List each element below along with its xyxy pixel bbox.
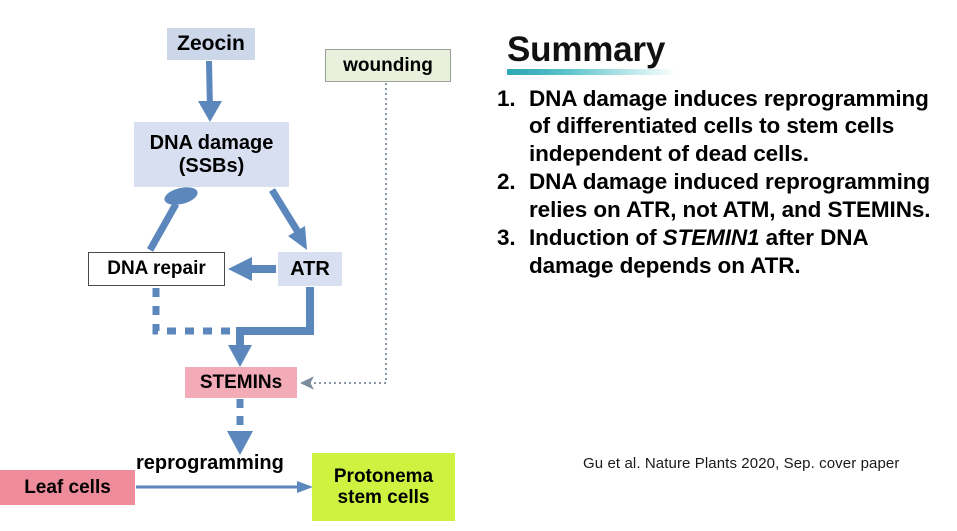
edge-dna-repair-dashed: [156, 288, 262, 331]
summary-list: 1. DNA damage induces reprogramming of d…: [497, 85, 952, 279]
node-zeocin[interactable]: Zeocin: [167, 28, 255, 60]
edge-zeocin-to-dna-damage: [198, 61, 222, 122]
summary-item-2-number: 2.: [497, 168, 525, 195]
citation-text: Gu et al. Nature Plants 2020, Sep. cover…: [583, 455, 899, 472]
slide-canvas: Zeocin wounding DNA damage (SSBs) DNA re…: [0, 0, 957, 531]
node-wounding[interactable]: wounding: [325, 49, 451, 82]
edge-wounding-to-stemins: [308, 83, 386, 383]
summary-item-1-text: DNA damage induces reprogramming of diff…: [529, 86, 929, 166]
edge-atr-to-stemins: [228, 287, 310, 367]
summary-item-2: 2. DNA damage induced reprogramming reli…: [497, 168, 952, 223]
summary-title-underline: [507, 69, 677, 75]
node-leaf-cells[interactable]: Leaf cells: [0, 470, 135, 505]
edge-stemins-to-protonema: [227, 399, 253, 455]
summary-item-3: 3. Induction of STEMIN1 after DNA damage…: [497, 224, 952, 279]
edge-atr-to-dna-repair: [228, 257, 276, 281]
node-dna-repair[interactable]: DNA repair: [88, 252, 225, 286]
gene-name-italic: STEMIN1: [663, 225, 760, 250]
node-protonema-stem-cells[interactable]: Protonema stem cells: [312, 453, 455, 521]
edge-dna-repair-to-dna-damage: [150, 184, 199, 250]
summary-item-3-number: 3.: [497, 224, 525, 251]
pathway-diagram: Zeocin wounding DNA damage (SSBs) DNA re…: [0, 0, 480, 531]
edge-label-reprogramming: reprogramming: [136, 452, 284, 475]
summary-title: Summary: [507, 32, 952, 67]
node-atr[interactable]: ATR: [278, 252, 342, 286]
edge-dna-damage-to-atr: [272, 190, 307, 250]
node-dna-damage[interactable]: DNA damage (SSBs): [134, 122, 289, 187]
summary-item-1-number: 1.: [497, 85, 525, 112]
edge-leaf-cells-to-protonema: [136, 481, 313, 493]
summary-item-2-text: DNA damage induced reprogramming relies …: [529, 169, 930, 221]
node-stemins[interactable]: STEMINs: [185, 367, 297, 398]
summary-panel: Summary 1. DNA damage induces reprogramm…: [497, 32, 952, 280]
summary-item-3-text: Induction of STEMIN1 after DNA damage de…: [529, 225, 868, 277]
summary-item-1: 1. DNA damage induces reprogramming of d…: [497, 85, 952, 167]
